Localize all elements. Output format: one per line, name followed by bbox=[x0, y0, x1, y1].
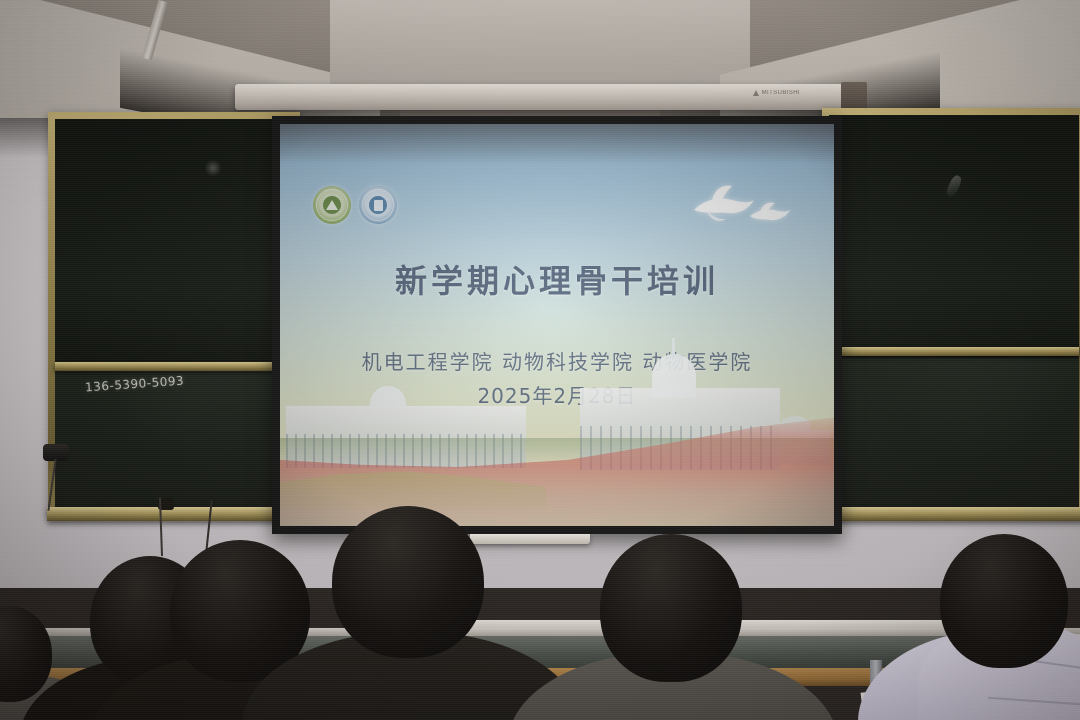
student-head bbox=[332, 506, 484, 658]
brand-triangle-icon bbox=[753, 90, 759, 96]
slide-title: 新学期心理骨干培训 bbox=[280, 256, 834, 302]
building-spire bbox=[672, 338, 675, 358]
chalkboard-left-chalk-tray bbox=[47, 507, 301, 521]
campus-skyline-illustration bbox=[280, 361, 834, 526]
housing-brand-logo: MITSUBISHI bbox=[753, 90, 800, 96]
classroom-scene: MITSUBISHI 136-5390-5093 bbox=[0, 0, 1080, 720]
dove-small-icon bbox=[746, 200, 792, 230]
college-emblem-blue-icon bbox=[359, 186, 397, 224]
slide-logo-group bbox=[313, 186, 397, 224]
emblem-ring bbox=[316, 189, 348, 221]
emblem-ring bbox=[362, 189, 394, 221]
chalkboard-right-upper-panel[interactable] bbox=[829, 115, 1079, 358]
chalkboard-right-divider-rail bbox=[829, 347, 1079, 356]
chalkboard-left-divider-rail bbox=[55, 362, 293, 371]
college-emblem-green-icon bbox=[313, 186, 351, 224]
chalkboard-left-upper-panel[interactable] bbox=[55, 119, 293, 362]
building-dome bbox=[652, 354, 696, 398]
chalk-smudge-icon bbox=[205, 159, 221, 177]
projector-screen-housing[interactable]: MITSUBISHI bbox=[235, 84, 855, 110]
chalkboard-right-chalk-tray bbox=[821, 507, 1080, 521]
chalkboard-left[interactable]: 136-5390-5093 bbox=[48, 112, 300, 514]
screen-pull-handle[interactable] bbox=[470, 534, 590, 544]
presentation-slide: 新学期心理骨干培训 机电工程学院 动物科技学院 动物医学院 2025年2月28日 bbox=[280, 124, 834, 526]
housing-brand-text: MITSUBISHI bbox=[762, 90, 800, 96]
student-head bbox=[940, 534, 1068, 668]
slide-top-dim-band bbox=[280, 124, 834, 164]
projector-screen[interactable]: 新学期心理骨干培训 机电工程学院 动物科技学院 动物医学院 2025年2月28日 bbox=[272, 116, 842, 534]
chalkboard-right[interactable] bbox=[822, 108, 1080, 514]
student-head bbox=[600, 534, 742, 682]
